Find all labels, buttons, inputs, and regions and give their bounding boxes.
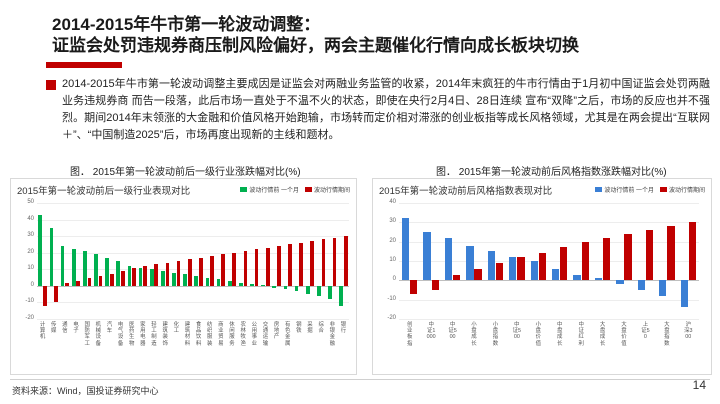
slide: 2014-2015年牛市第一轮波动调整： 证监会处罚违规券商压制风险偏好，两会主… <box>0 0 720 404</box>
chart-bar <box>99 276 103 286</box>
chart-bar <box>76 281 80 286</box>
chart-bar <box>423 232 430 280</box>
grid-line <box>37 319 349 320</box>
x-axis-tick-label: 创业板指 <box>405 322 414 347</box>
chart-bar <box>667 226 674 280</box>
x-axis-tick-label: 小盘价值 <box>534 322 543 347</box>
chart-bar <box>539 253 546 280</box>
y-axis-tick-label: 10 <box>378 257 396 263</box>
x-axis-tick-label: 有色金属 <box>283 322 292 347</box>
chart-panel-industry: 2015年第一轮波动前后一级行业表现对比 波动行情前 一个月 波动行情期间 -2… <box>10 178 357 375</box>
chart-bar <box>496 263 503 280</box>
x-axis-tick-label: 中证500 <box>448 322 457 341</box>
chart-bar <box>552 269 559 281</box>
x-axis-tick-label: 大盘价值 <box>620 322 629 347</box>
x-axis-tick-label: 采掘 <box>306 322 315 334</box>
chart-bar <box>43 286 47 306</box>
chart-bar <box>531 261 538 280</box>
chart-bar <box>261 285 265 286</box>
chart-bar <box>595 278 602 280</box>
chart-bar <box>573 275 580 281</box>
chart-bar <box>445 238 452 281</box>
chart-bar <box>221 254 225 285</box>
chart-bar <box>38 215 42 286</box>
y-axis-tick-label: -20 <box>378 315 396 321</box>
chart-bar <box>232 253 236 286</box>
chart-bar <box>217 279 221 286</box>
x-axis-tick-label: 传媒 <box>49 322 58 334</box>
x-axis-tick-label: 公用事业 <box>250 322 259 347</box>
y-axis-tick-label: 10 <box>16 265 34 271</box>
x-axis-tick-label: 建筑装饰 <box>161 322 170 347</box>
chart-bar <box>199 258 203 286</box>
chart-bar <box>339 286 343 306</box>
x-axis-tick-label: 银行 <box>339 322 348 334</box>
chart-bar <box>188 259 192 286</box>
grid-line <box>399 319 699 320</box>
x-axis-tick-label: 医药生物 <box>127 322 136 347</box>
y-axis-tick-label: 50 <box>16 199 34 205</box>
chart-bar <box>277 246 281 286</box>
x-axis-tick-label: 化工 <box>172 322 181 334</box>
footer-divider <box>10 379 710 380</box>
chart-bar <box>244 251 248 286</box>
x-axis-tick-label: 中盘成长 <box>555 322 564 347</box>
y-axis-tick-label: 0 <box>16 282 34 288</box>
grid-line <box>37 220 349 221</box>
chart-bar <box>206 278 210 286</box>
grid-line <box>37 302 349 303</box>
x-axis-tick-label: 机械设备 <box>94 322 103 347</box>
chart-bar <box>239 283 243 286</box>
chart-bar <box>322 239 326 285</box>
y-axis-tick-label: 20 <box>378 238 396 244</box>
chart-bar <box>344 236 348 286</box>
chart-bar <box>560 247 567 280</box>
title-line-2: 证监会处罚违规券商压制风险偏好，两会主题催化行情向成长板块切换 <box>52 35 712 56</box>
chart-bar <box>517 257 524 280</box>
x-axis-tick-label: 小盘指数 <box>491 322 500 347</box>
x-axis-tick-label: 非银金融 <box>328 322 337 347</box>
x-axis-tick-label: 通信 <box>60 322 69 334</box>
x-axis-tick-label: 商业贸易 <box>216 322 225 347</box>
chart-bar <box>616 280 623 284</box>
chart-plot-style: -20-10010203040创业板指中证1000中证500小盘成长小盘指数中证… <box>373 179 711 374</box>
chart-bar <box>255 249 259 285</box>
x-axis-tick-label: 中证500 <box>512 322 521 341</box>
axis-zero-line <box>37 286 349 287</box>
chart-bar <box>50 228 54 286</box>
x-axis-tick-label: 国防军工 <box>83 322 92 347</box>
grid-line <box>37 236 349 237</box>
x-axis-tick-label: 综合 <box>317 322 326 334</box>
chart-bar <box>333 238 337 286</box>
y-axis-tick-label: 0 <box>378 276 396 282</box>
y-axis-tick-label: -20 <box>16 315 34 321</box>
source-note: 资料来源：Wind，国投证券研究中心 <box>12 384 159 397</box>
y-axis-tick-label: -10 <box>378 296 396 302</box>
x-axis-tick-label: 休闲服务 <box>228 322 237 347</box>
chart-bar <box>474 269 481 281</box>
x-axis-tick-label: 交通运输 <box>261 322 270 347</box>
bullet-marker <box>46 80 56 90</box>
title-underline-bar <box>46 62 122 68</box>
chart-bar <box>266 248 270 286</box>
chart-bar <box>110 274 114 286</box>
chart-bar <box>72 249 76 285</box>
chart-bar <box>121 271 125 286</box>
chart-bar <box>143 266 147 286</box>
x-axis-tick-label: 钢铁 <box>294 322 303 334</box>
chart-bar <box>582 242 589 281</box>
chart-bar <box>488 251 495 280</box>
chart-bar <box>88 278 92 286</box>
chart-bar <box>295 286 299 291</box>
chart-bar <box>177 261 181 286</box>
x-axis-tick-label: 沪深300 <box>684 322 693 341</box>
y-axis-tick-label: 30 <box>16 232 34 238</box>
x-axis-tick-label: 小盘成长 <box>470 322 479 347</box>
chart-bar <box>689 222 696 280</box>
chart-bar <box>132 268 136 286</box>
chart-bar <box>228 281 232 286</box>
chart-bar <box>453 275 460 281</box>
x-axis-tick-label: 农林牧渔 <box>239 322 248 347</box>
chart-bar <box>61 246 65 286</box>
chart-bar <box>150 269 154 286</box>
axis-zero-line <box>399 280 699 281</box>
chart-bar <box>638 280 645 290</box>
x-axis-tick-label: 中证红利 <box>577 322 586 347</box>
chart-bar <box>83 251 87 286</box>
chart-bar <box>166 263 170 286</box>
grid-line <box>399 222 699 223</box>
chart-bar <box>306 286 310 294</box>
chart-bar <box>317 286 321 296</box>
body-paragraph: 2014-2015年牛市第一轮波动调整主要成因是证监会对两融业务监管的收紧，20… <box>62 76 710 144</box>
x-axis-tick-label: 食品饮料 <box>194 322 203 347</box>
grid-line <box>399 300 699 301</box>
x-axis-tick-label: 纺织服装 <box>205 322 214 347</box>
chart-bar <box>154 264 158 286</box>
x-axis-tick-label: 汽车 <box>105 322 114 334</box>
chart-bar <box>172 273 176 286</box>
chart-bar <box>328 286 332 299</box>
chart-bar <box>659 280 666 295</box>
chart-bar <box>210 256 214 286</box>
page-number: 14 <box>693 378 706 392</box>
caption-left-chart: 图． 2015年第一轮波动前后一级行业涨跌幅对比(%) <box>70 163 301 178</box>
grid-line <box>37 203 349 204</box>
chart-panel-style: 2015年第一轮波动前后风格指数表现对比 波动行情前 一个月 波动行情期间 -2… <box>372 178 712 375</box>
x-axis-tick-label: 家用电器 <box>138 322 147 347</box>
chart-plot-industry: -20-1001020304050计算机传媒通信电子国防军工机械设备汽车电气设备… <box>11 179 356 374</box>
chart-bar <box>194 276 198 286</box>
page-title: 2014-2015年牛市第一轮波动调整： 证监会处罚违规券商压制风险偏好，两会主… <box>52 14 712 56</box>
chart-bar <box>402 218 409 280</box>
chart-bar <box>509 257 516 280</box>
chart-bar <box>299 243 303 286</box>
chart-bar <box>288 244 292 285</box>
caption-right-chart: 图． 2015年第一轮波动前后风格指数涨跌幅对比(%) <box>436 163 667 178</box>
x-axis-tick-label: 建筑材料 <box>183 322 192 347</box>
x-axis-tick-label: 轻工制造 <box>150 322 159 347</box>
chart-bar <box>54 286 58 303</box>
y-axis-tick-label: -10 <box>16 298 34 304</box>
chart-bar <box>603 238 610 281</box>
chart-bar <box>310 241 314 286</box>
chart-bar <box>284 286 288 289</box>
chart-bar <box>183 274 187 286</box>
x-axis-tick-label: 电子 <box>72 322 81 334</box>
x-axis-tick-label: 计算机 <box>38 322 47 341</box>
chart-bar <box>466 246 473 281</box>
x-axis-tick-label: 上证50 <box>641 322 650 341</box>
x-axis-tick-label: 房地产 <box>272 322 281 341</box>
y-axis-tick-label: 40 <box>16 216 34 222</box>
chart-bar <box>116 261 120 286</box>
chart-bar <box>94 254 98 285</box>
y-axis-tick-label: 30 <box>378 218 396 224</box>
chart-bar <box>250 284 254 286</box>
chart-bar <box>272 286 276 288</box>
x-axis-tick-label: 大盘成长 <box>598 322 607 347</box>
y-axis-tick-label: 40 <box>378 199 396 205</box>
x-axis-tick-label: 大盘指数 <box>662 322 671 347</box>
chart-bar <box>681 280 688 307</box>
grid-line <box>399 203 699 204</box>
chart-bar <box>105 258 109 286</box>
chart-bar <box>128 266 132 286</box>
x-axis-tick-label: 电气设备 <box>116 322 125 347</box>
x-axis-tick-label: 中证1000 <box>427 322 436 341</box>
y-axis-tick-label: 20 <box>16 249 34 255</box>
chart-bar <box>410 280 417 294</box>
chart-bar <box>646 230 653 280</box>
chart-bar <box>624 234 631 280</box>
chart-bar <box>161 271 165 286</box>
chart-bar <box>432 280 439 290</box>
chart-bar <box>65 283 69 286</box>
title-line-1: 2014-2015年牛市第一轮波动调整： <box>52 14 712 35</box>
chart-bar <box>139 268 143 286</box>
